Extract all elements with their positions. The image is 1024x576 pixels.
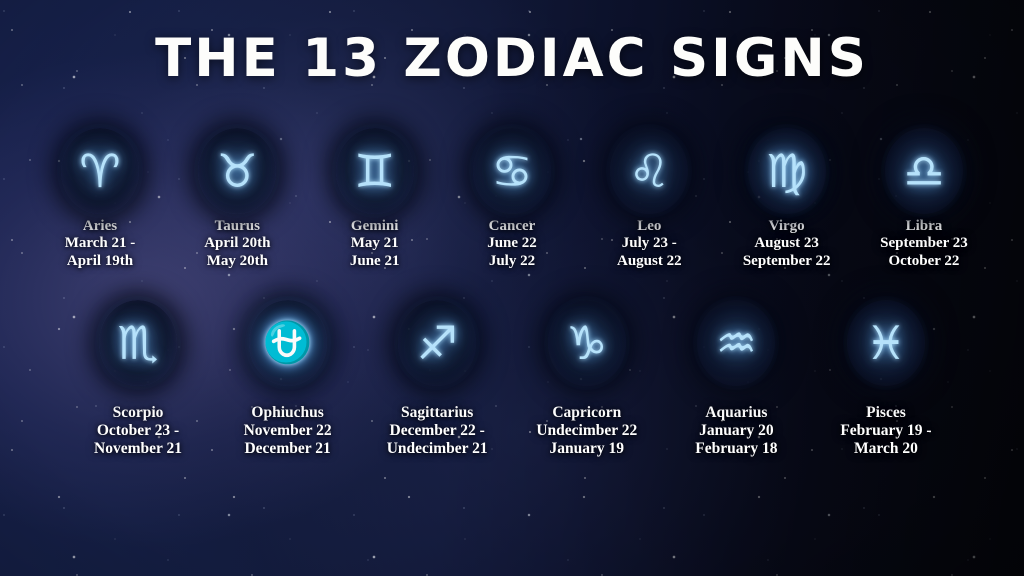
zodiac-orb: ♌ — [610, 128, 688, 214]
virgo-icon: ♍ — [766, 148, 807, 194]
zodiac-sign-name: Ophiuchus — [244, 404, 332, 422]
pisces-icon: ♓ — [865, 320, 906, 366]
zodiac-orb: ♑ — [548, 300, 626, 386]
zodiac-caption: ScorpioOctober 23 -November 21 — [94, 404, 182, 458]
capricorn-icon: ♑ — [566, 320, 607, 366]
zodiac-sign-name: Leo — [617, 218, 682, 235]
zodiac-date-end: April 19th — [65, 253, 136, 270]
zodiac-date-end: February 18 — [695, 440, 777, 458]
ophiuchus-icon: ⛎ — [263, 323, 313, 363]
zodiac-sign-name: Taurus — [204, 218, 270, 235]
zodiac-orb: ♋ — [473, 128, 551, 214]
zodiac-orb: ♍ — [748, 128, 826, 214]
zodiac-orb: ♉ — [198, 128, 276, 214]
zodiac-date-end: September 22 — [743, 253, 831, 270]
zodiac-caption: LibraSeptember 23October 22 — [880, 218, 968, 270]
zodiac-sign-pisces[interactable]: ♓PiscesFebruary 19 -March 20 — [822, 300, 950, 458]
zodiac-sign-sagittarius[interactable]: ♐SagittariusDecember 22 -Undecimber 21 — [373, 300, 501, 458]
zodiac-sign-virgo[interactable]: ♍VirgoAugust 23September 22 — [723, 128, 851, 270]
zodiac-date-start: May 21 — [350, 235, 400, 252]
zodiac-sign-leo[interactable]: ♌LeoJuly 23 -August 22 — [585, 128, 713, 270]
zodiac-date-end: Undecimber 21 — [387, 440, 488, 458]
zodiac-sign-scorpio[interactable]: ♏ScorpioOctober 23 -November 21 — [74, 300, 202, 458]
zodiac-sign-name: Libra — [880, 218, 968, 235]
aries-icon: ♈ — [79, 148, 120, 194]
zodiac-date-end: August 22 — [617, 253, 682, 270]
zodiac-caption: SagittariusDecember 22 -Undecimber 21 — [387, 404, 488, 458]
zodiac-caption: LeoJuly 23 -August 22 — [617, 218, 682, 270]
zodiac-date-end: May 20th — [204, 253, 270, 270]
zodiac-date-start: January 20 — [695, 422, 777, 440]
zodiac-orb: ♎ — [885, 128, 963, 214]
sagittarius-icon: ♐ — [417, 320, 458, 366]
zodiac-date-end: December 21 — [244, 440, 332, 458]
zodiac-caption: OphiuchusNovember 22December 21 — [244, 404, 332, 458]
zodiac-sign-name: Pisces — [840, 404, 931, 422]
zodiac-date-end: January 19 — [536, 440, 637, 458]
zodiac-date-start: October 23 - — [94, 422, 182, 440]
zodiac-sign-gemini[interactable]: ♊GeminiMay 21June 21 — [311, 128, 439, 270]
zodiac-date-start: February 19 - — [840, 422, 931, 440]
zodiac-orb: ♊ — [336, 128, 414, 214]
zodiac-date-start: September 23 — [880, 235, 968, 252]
zodiac-date-start: July 23 - — [617, 235, 682, 252]
scorpio-icon: ♏ — [117, 320, 158, 366]
zodiac-date-start: December 22 - — [387, 422, 488, 440]
zodiac-sign-taurus[interactable]: ♉TaurusApril 20thMay 20th — [173, 128, 301, 270]
zodiac-sign-capricorn[interactable]: ♑CapricornUndecimber 22January 19 — [523, 300, 651, 458]
zodiac-poster: THE 13 ZODIAC SIGNS ♈AriesMarch 21 -Apri… — [0, 0, 1024, 576]
zodiac-orb: ♒ — [697, 300, 775, 386]
zodiac-orb: ♐ — [398, 300, 476, 386]
zodiac-sign-name: Aquarius — [695, 404, 777, 422]
zodiac-date-start: Undecimber 22 — [536, 422, 637, 440]
zodiac-sign-cancer[interactable]: ♋CancerJune 22July 22 — [448, 128, 576, 270]
zodiac-caption: AriesMarch 21 -April 19th — [65, 218, 136, 270]
zodiac-sign-name: Virgo — [743, 218, 831, 235]
zodiac-date-end: March 20 — [840, 440, 931, 458]
zodiac-orb: ⛎ — [249, 300, 327, 386]
zodiac-sign-ophiuchus[interactable]: ⛎OphiuchusNovember 22December 21 — [224, 300, 352, 458]
gemini-icon: ♊ — [354, 148, 395, 194]
zodiac-sign-name: Aries — [65, 218, 136, 235]
zodiac-date-end: June 21 — [350, 253, 400, 270]
zodiac-sign-aquarius[interactable]: ♒AquariusJanuary 20February 18 — [672, 300, 800, 458]
zodiac-date-start: June 22 — [487, 235, 537, 252]
zodiac-date-start: March 21 - — [65, 235, 136, 252]
zodiac-orb: ♓ — [847, 300, 925, 386]
zodiac-sign-name: Scorpio — [94, 404, 182, 422]
zodiac-orb: ♏ — [99, 300, 177, 386]
zodiac-sign-name: Sagittarius — [387, 404, 488, 422]
zodiac-row-first: ♈AriesMarch 21 -April 19th♉TaurusApril 2… — [36, 128, 988, 270]
zodiac-date-start: August 23 — [743, 235, 831, 252]
zodiac-caption: PiscesFebruary 19 -March 20 — [840, 404, 931, 458]
zodiac-caption: VirgoAugust 23September 22 — [743, 218, 831, 270]
page-title: THE 13 ZODIAC SIGNS — [0, 28, 1024, 89]
zodiac-caption: AquariusJanuary 20February 18 — [695, 404, 777, 458]
zodiac-date-start: November 22 — [244, 422, 332, 440]
zodiac-row-second: ♏ScorpioOctober 23 -November 21⛎Ophiuchu… — [74, 300, 950, 458]
zodiac-caption: GeminiMay 21June 21 — [350, 218, 400, 270]
zodiac-sign-name: Gemini — [350, 218, 400, 235]
aquarius-icon: ♒ — [716, 320, 757, 366]
zodiac-sign-aries[interactable]: ♈AriesMarch 21 -April 19th — [36, 128, 164, 270]
zodiac-orb: ♈ — [61, 128, 139, 214]
zodiac-date-end: October 22 — [880, 253, 968, 270]
zodiac-caption: TaurusApril 20thMay 20th — [204, 218, 270, 270]
taurus-icon: ♉ — [217, 148, 258, 194]
zodiac-caption: CapricornUndecimber 22January 19 — [536, 404, 637, 458]
cancer-icon: ♋ — [491, 148, 532, 194]
zodiac-date-end: November 21 — [94, 440, 182, 458]
libra-icon: ♎ — [903, 148, 944, 194]
leo-icon: ♌ — [629, 148, 670, 194]
zodiac-date-end: July 22 — [487, 253, 537, 270]
zodiac-sign-name: Cancer — [487, 218, 537, 235]
zodiac-sign-libra[interactable]: ♎LibraSeptember 23October 22 — [860, 128, 988, 270]
zodiac-sign-name: Capricorn — [536, 404, 637, 422]
zodiac-date-start: April 20th — [204, 235, 270, 252]
zodiac-caption: CancerJune 22July 22 — [487, 218, 537, 270]
